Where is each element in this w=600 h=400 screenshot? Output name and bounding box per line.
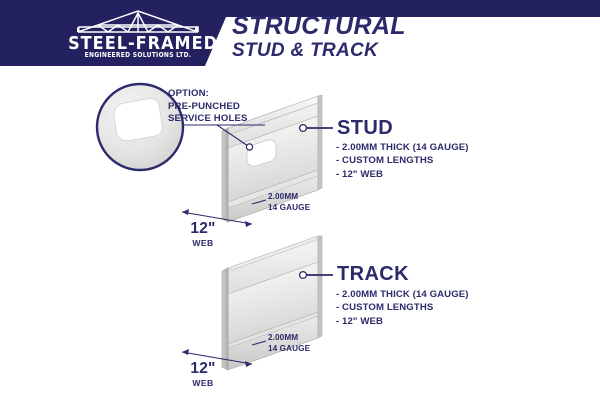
stud-gauge-note: 2.00MM 14 GAUGE bbox=[268, 192, 310, 213]
track-gauge-note: 2.00MM 14 GAUGE bbox=[268, 333, 310, 354]
stud-title: STUD bbox=[337, 117, 393, 140]
track-web-label: WEB bbox=[168, 377, 238, 389]
track-spec-list: - 2.00MM THICK (14 GAUGE) - CUSTOM LENGT… bbox=[336, 288, 536, 328]
track-spec-item: - 2.00MM THICK (14 GAUGE) bbox=[336, 288, 536, 301]
callout-line-1: OPTION: bbox=[168, 88, 280, 101]
poster-canvas: STEEL-FRAMED ENGINEERED SOLUTIONS LTD. S… bbox=[0, 0, 600, 400]
track-leader-dot bbox=[300, 272, 307, 279]
stud-spec-item: - 12" WEB bbox=[336, 168, 536, 181]
stud-spec-item: - CUSTOM LENGTHS bbox=[336, 154, 536, 167]
track-end-cut bbox=[222, 268, 228, 370]
stud-leader-dot bbox=[300, 125, 307, 132]
track-gauge-line-1: 2.00MM bbox=[268, 333, 310, 344]
stud-spec-item: - 2.00MM THICK (14 GAUGE) bbox=[336, 141, 536, 154]
track-right-end bbox=[318, 236, 322, 338]
track-web-value: 12" bbox=[168, 361, 238, 377]
track-title: TRACK bbox=[337, 263, 409, 286]
track-spec-item: - 12" WEB bbox=[336, 315, 536, 328]
stud-right-end bbox=[318, 95, 322, 190]
stud-gauge-line-1: 2.00MM bbox=[268, 192, 310, 203]
stud-spec-list: - 2.00MM THICK (14 GAUGE) - CUSTOM LENGT… bbox=[336, 141, 536, 181]
stud-web-label: WEB bbox=[168, 237, 238, 249]
track-web-dimension: 12" WEB bbox=[168, 361, 238, 389]
track-spec-item: - CUSTOM LENGTHS bbox=[336, 301, 536, 314]
stud-web-value: 12" bbox=[168, 221, 238, 237]
callout-line-2: PRE-PUNCHED bbox=[168, 101, 280, 114]
stud-hole-marker-dot bbox=[246, 144, 252, 150]
stud-gauge-line-2: 14 GAUGE bbox=[268, 203, 310, 214]
track-gauge-line-2: 14 GAUGE bbox=[268, 344, 310, 355]
callout-line-3: SERVICE HOLES bbox=[168, 113, 280, 126]
stud-end-cut bbox=[222, 128, 228, 222]
stud-web-dimension: 12" WEB bbox=[168, 221, 238, 249]
service-hole-callout-text: OPTION: PRE-PUNCHED SERVICE HOLES bbox=[168, 88, 280, 126]
